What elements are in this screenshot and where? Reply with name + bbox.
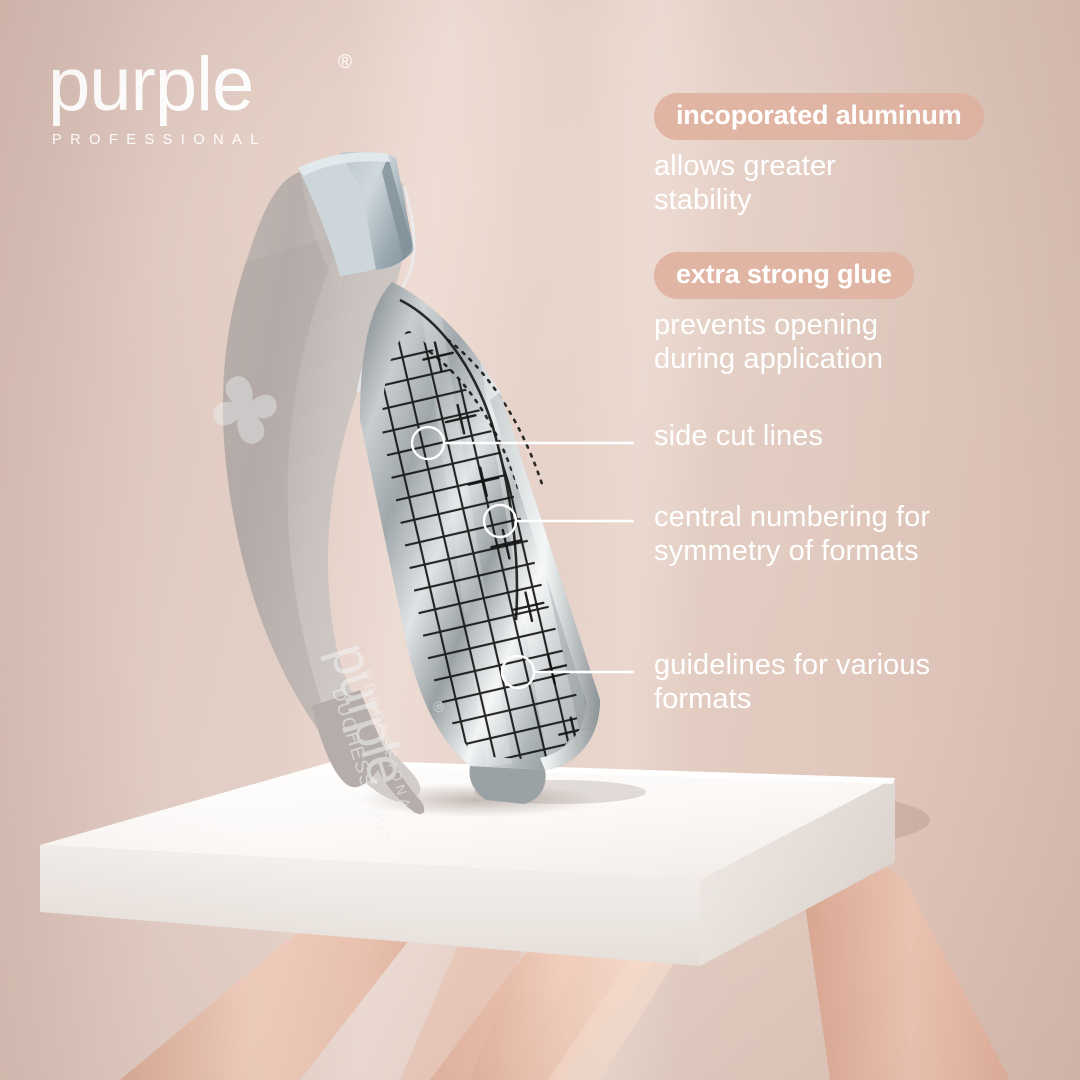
form-guideline-grid (246, 266, 714, 854)
callout-marker-side-cut-lines (412, 427, 444, 459)
brand-logo: purple® PROFESSIONAL (48, 48, 348, 148)
brand-wordmark: purple® (48, 48, 348, 122)
form-foil-strip (246, 266, 714, 854)
feature-badge: incoporated aluminum (654, 93, 984, 140)
form-side-cut-lines (430, 340, 542, 488)
feature-extra-strong-glue: extra strong glue prevents openingduring… (654, 252, 1054, 376)
feature-description: allows greaterstability (654, 149, 1054, 217)
callout-label-side-cut-lines: side cut lines (654, 419, 1054, 453)
form-top-flap (298, 152, 414, 276)
form-body (223, 166, 420, 802)
pedestal-slab (40, 760, 895, 966)
feature-description: prevents openingduring application (654, 308, 1054, 376)
callout-label-central-numbering: central numbering forsymmetry of formats (654, 500, 1054, 568)
four-petal-flower-icon (204, 367, 286, 453)
form-spine (358, 186, 414, 392)
brand-wordmark-text: purple (48, 42, 253, 127)
product-print-block: purple PROFESSIONAL DUCHESS P992 ® (319, 636, 448, 846)
product-print-wordmark: purple (319, 636, 419, 791)
registered-trademark-icon: ® (338, 54, 352, 73)
promo-canvas: purple PROFESSIONAL DUCHESS P992 ® purpl… (0, 0, 1080, 1080)
callout-label-guidelines: guidelines for variousformats (654, 648, 1054, 716)
product-print-registered: ® (428, 699, 447, 715)
pedestal-legs (120, 782, 1010, 1080)
product-print-tagline: PROFESSIONAL (357, 668, 419, 825)
brand-tagline: PROFESSIONAL (52, 132, 348, 148)
form-nail-arc (400, 300, 517, 620)
callout-marker-guidelines (502, 656, 534, 688)
form-bottom-tail (312, 690, 546, 814)
form-central-numbering (420, 328, 592, 760)
feature-incoporated-aluminum: incoporated aluminum allows greaterstabi… (654, 93, 1054, 217)
background-band (253, 0, 557, 1080)
product-print-model: DUCHESS P992 (327, 685, 394, 846)
callout-marker-central-numbering (484, 505, 516, 537)
feature-badge: extra strong glue (654, 252, 914, 299)
background-band (0, 0, 160, 1080)
